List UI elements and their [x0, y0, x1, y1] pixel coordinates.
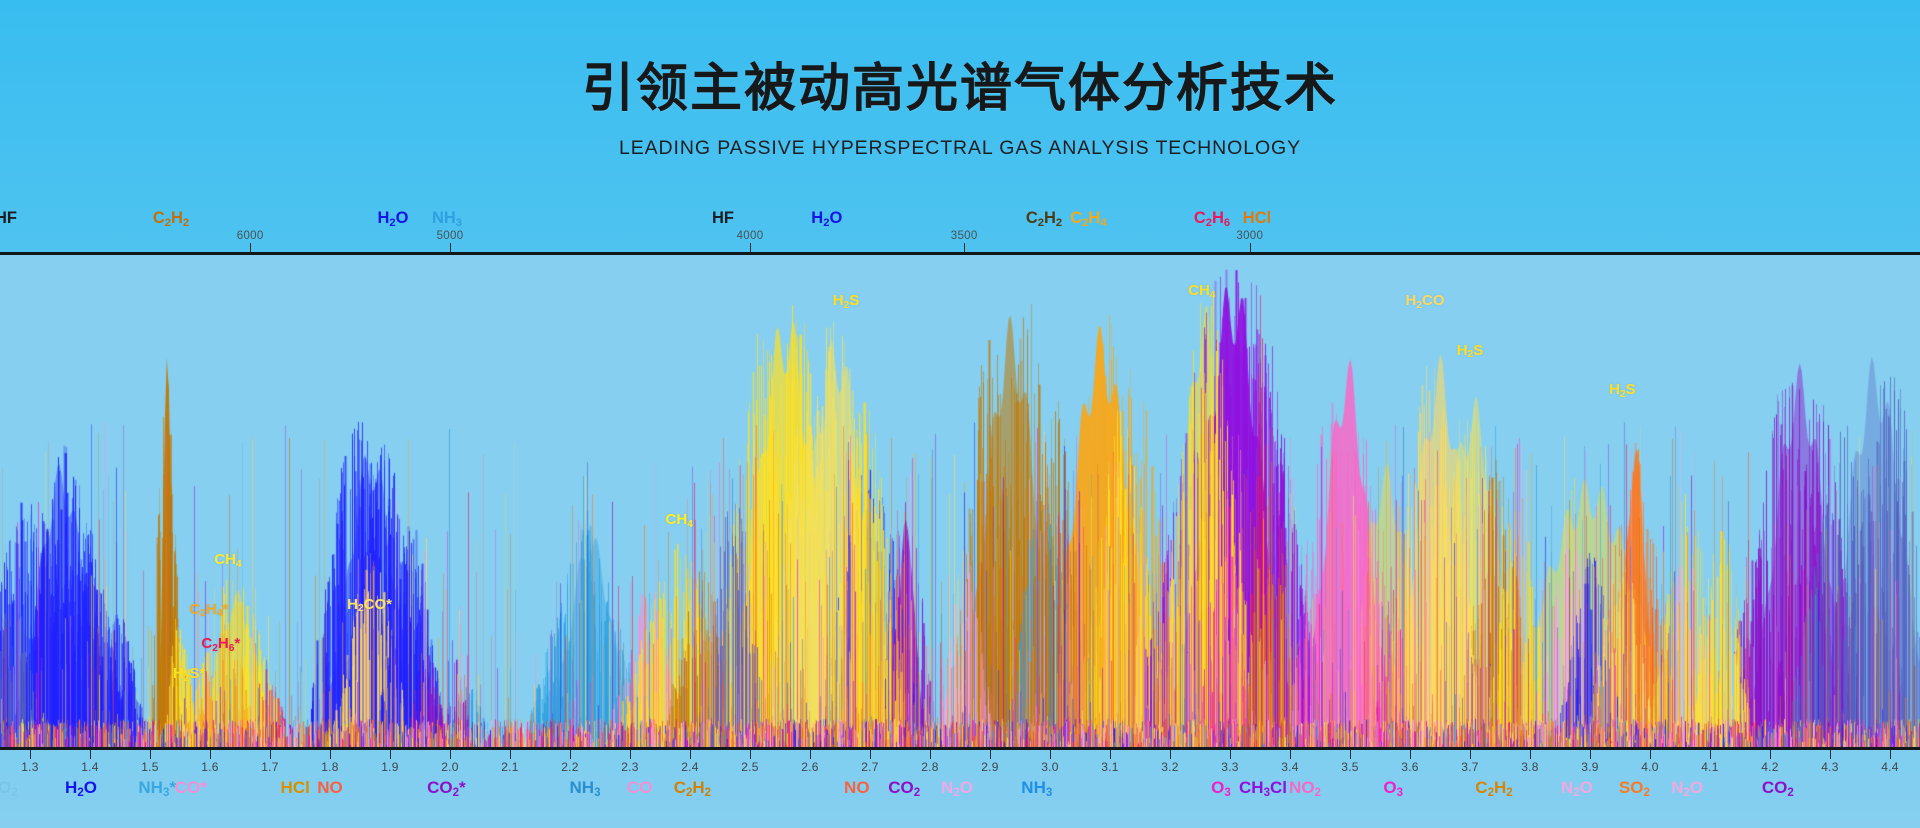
bottom-gas-label-ch3cl: CH3Cl — [1239, 778, 1287, 798]
bottom-wavelength-axis: 1.31.41.51.61.71.81.92.02.12.22.32.42.52… — [0, 750, 1920, 828]
top-axis-tick — [750, 243, 751, 252]
top-gas-label-c2h6: C2H6 — [1194, 209, 1230, 228]
bottom-axis-tick-label: 2.9 — [981, 760, 999, 774]
bottom-axis-tick-label: 3.2 — [1161, 760, 1179, 774]
bottom-axis-tick-label: 4.4 — [1881, 760, 1899, 774]
bottom-axis-tick-label: 1.8 — [321, 760, 339, 774]
inplot-gas-label-h2s: H2S — [833, 292, 860, 309]
top-axis-tick-label: 6000 — [237, 230, 264, 242]
page-subtitle: LEADING PASSIVE HYPERSPECTRAL GAS ANALYS… — [0, 137, 1920, 160]
bottom-gas-label-co2: CO2 — [888, 778, 920, 798]
bottom-axis-tick — [1530, 750, 1531, 759]
top-axis-tick-label: 4000 — [737, 230, 764, 242]
bottom-axis-tick — [1410, 750, 1411, 759]
bottom-gas-label-co: CO — [627, 778, 653, 798]
bottom-gas-label-co2: CO2* — [427, 778, 466, 798]
bottom-axis-tick — [1710, 750, 1711, 759]
bottom-axis-tick — [330, 750, 331, 759]
top-gas-label-c2h4: C2H4 — [1070, 209, 1106, 228]
spectrum-plot-area — [0, 255, 1920, 747]
header: 引领主被动高光谱气体分析技术 LEADING PASSIVE HYPERSPEC… — [0, 0, 1920, 200]
top-gas-label-hf: HF — [712, 209, 734, 228]
bottom-axis-tick-label: 1.7 — [261, 760, 279, 774]
bottom-axis-tick — [990, 750, 991, 759]
bottom-axis-tick-label: 3.6 — [1401, 760, 1419, 774]
bottom-axis-tick — [450, 750, 451, 759]
bottom-axis-tick-label: 3.7 — [1461, 760, 1479, 774]
bottom-axis-tick-label: 1.4 — [81, 760, 99, 774]
inplot-gas-label-h2s: H2S* — [173, 665, 205, 682]
bottom-gas-label-no: NO — [317, 778, 343, 798]
bottom-axis-tick-label: 3.3 — [1221, 760, 1239, 774]
top-axis-tick — [964, 243, 965, 252]
top-axis-tick — [1250, 243, 1251, 252]
page-title: 引领主被动高光谱气体分析技术 — [0, 62, 1920, 117]
bottom-axis-tick — [150, 750, 151, 759]
bottom-axis-tick — [1650, 750, 1651, 759]
top-axis-tick-label: 5000 — [437, 230, 464, 242]
bottom-axis-tick-label: 2.6 — [801, 760, 819, 774]
bottom-axis-tick — [1110, 750, 1111, 759]
top-gas-label-c2h2: C2H2 — [153, 209, 189, 228]
top-gas-label-nh3: NH3 — [432, 209, 462, 228]
bottom-axis-tick-label: 3.0 — [1041, 760, 1059, 774]
bottom-gas-label-h2o: H2O — [65, 778, 97, 798]
bottom-axis-tick-label: 2.2 — [561, 760, 579, 774]
top-gas-label-h2o: H2O — [811, 209, 842, 228]
bottom-gas-label-hcl: HCl — [281, 778, 310, 798]
bottom-axis-tick — [810, 750, 811, 759]
bottom-axis-tick — [570, 750, 571, 759]
bottom-axis-tick-label: 4.3 — [1821, 760, 1839, 774]
inplot-gas-label-ch4: CH4 — [1188, 282, 1215, 299]
bottom-gas-label-co2: CO2 — [1762, 778, 1794, 798]
inplot-gas-label-h2s: H2S — [1609, 381, 1636, 398]
bottom-axis-tick-label: 2.1 — [501, 760, 519, 774]
bottom-axis-tick — [270, 750, 271, 759]
bottom-axis-tick-label: 4.0 — [1641, 760, 1659, 774]
inplot-gas-label-c2h4: C2H4* — [189, 601, 228, 618]
bottom-axis-tick — [870, 750, 871, 759]
bottom-axis-tick — [1290, 750, 1291, 759]
inplot-gas-label-ch4: CH4 — [214, 551, 241, 568]
bottom-axis-tick — [390, 750, 391, 759]
bottom-axis-tick — [90, 750, 91, 759]
bottom-axis-tick — [210, 750, 211, 759]
bottom-axis-tick — [1890, 750, 1891, 759]
top-wavenumber-axis: 60005000400035003000HFC2H2H2ONH3HFH2OC2H… — [0, 196, 1920, 252]
bottom-gas-label-co2: CO2 — [0, 778, 18, 798]
spectrum-chart: H2SCH4H2COH2SH2SCH4CH4C2H4*C2H6*H2S*H2CO… — [0, 252, 1920, 750]
bottom-axis-tick-label: 2.7 — [861, 760, 879, 774]
top-gas-label-hf: HF — [0, 209, 17, 228]
bottom-gas-label-n2o: N2O — [1561, 778, 1593, 798]
bottom-gas-label-nh3: NH3* — [138, 778, 176, 798]
bottom-gas-label-n2o: N2O — [941, 778, 973, 798]
inplot-gas-label-h2s: H2S — [1457, 342, 1484, 359]
top-gas-label-hcl: HCl — [1243, 209, 1271, 228]
bottom-axis-tick-label: 3.4 — [1281, 760, 1299, 774]
bottom-axis-tick — [930, 750, 931, 759]
top-axis-tick — [450, 243, 451, 252]
bottom-axis-tick-label: 1.9 — [381, 760, 399, 774]
inplot-gas-label-h2co: H2CO — [1405, 292, 1444, 309]
bottom-axis-tick — [1470, 750, 1471, 759]
bottom-axis-tick-label: 3.9 — [1581, 760, 1599, 774]
poster-root: 引领主被动高光谱气体分析技术 LEADING PASSIVE HYPERSPEC… — [0, 0, 1920, 828]
top-gas-label-h2o: H2O — [377, 209, 408, 228]
bottom-gas-label-no2: NO2 — [1289, 778, 1321, 798]
bottom-axis-tick — [690, 750, 691, 759]
bottom-gas-label-nh3: NH3 — [570, 778, 601, 798]
bottom-axis-tick — [630, 750, 631, 759]
bottom-axis-tick-label: 4.2 — [1761, 760, 1779, 774]
bottom-axis-tick-label: 3.5 — [1341, 760, 1359, 774]
bottom-axis-tick-label: 2.4 — [681, 760, 699, 774]
inplot-gas-label-ch4: CH4 — [666, 511, 693, 528]
bottom-axis-tick — [1050, 750, 1051, 759]
bottom-axis-tick — [1590, 750, 1591, 759]
bottom-gas-label-co: CO* — [175, 778, 207, 798]
bottom-gas-label-nh3: NH3 — [1021, 778, 1052, 798]
bottom-gas-label-no: NO — [844, 778, 870, 798]
top-axis-tick-label: 3000 — [1236, 230, 1263, 242]
bottom-axis-tick-label: 3.1 — [1101, 760, 1119, 774]
bottom-axis-tick-label: 2.3 — [621, 760, 639, 774]
inplot-gas-label-c2h6: C2H6* — [201, 635, 240, 652]
bottom-axis-tick — [1170, 750, 1171, 759]
top-gas-label-c2h2: C2H2 — [1026, 209, 1062, 228]
bottom-axis-tick — [1350, 750, 1351, 759]
bottom-axis-tick-label: 4.1 — [1701, 760, 1719, 774]
bottom-gas-label-so2: SO2 — [1619, 778, 1650, 798]
bottom-gas-label-c2h2: C2H2 — [674, 778, 711, 798]
bottom-axis-tick — [510, 750, 511, 759]
bottom-gas-label-n2o: N2O — [1671, 778, 1703, 798]
bottom-axis-tick-label: 1.6 — [201, 760, 219, 774]
bottom-axis-tick-label: 2.5 — [741, 760, 759, 774]
top-axis-tick — [250, 243, 251, 252]
inplot-gas-label-h2co: H2CO* — [347, 596, 392, 613]
spectrum-canvas — [0, 255, 1920, 747]
bottom-axis-tick — [750, 750, 751, 759]
bottom-axis-tick-label: 1.3 — [21, 760, 39, 774]
bottom-axis-tick-label: 1.5 — [141, 760, 159, 774]
bottom-axis-tick-label: 2.0 — [441, 760, 459, 774]
top-axis-tick-label: 3500 — [951, 230, 978, 242]
bottom-axis-tick — [30, 750, 31, 759]
bottom-gas-label-o3: O3 — [1383, 778, 1403, 798]
bottom-axis-tick — [1770, 750, 1771, 759]
bottom-axis-tick-label: 3.8 — [1521, 760, 1539, 774]
bottom-axis-tick — [1230, 750, 1231, 759]
bottom-axis-tick-label: 2.8 — [921, 760, 939, 774]
bottom-gas-label-c2h2: C2H2 — [1475, 778, 1512, 798]
bottom-gas-label-o3: O3 — [1211, 778, 1231, 798]
bottom-axis-tick — [1830, 750, 1831, 759]
